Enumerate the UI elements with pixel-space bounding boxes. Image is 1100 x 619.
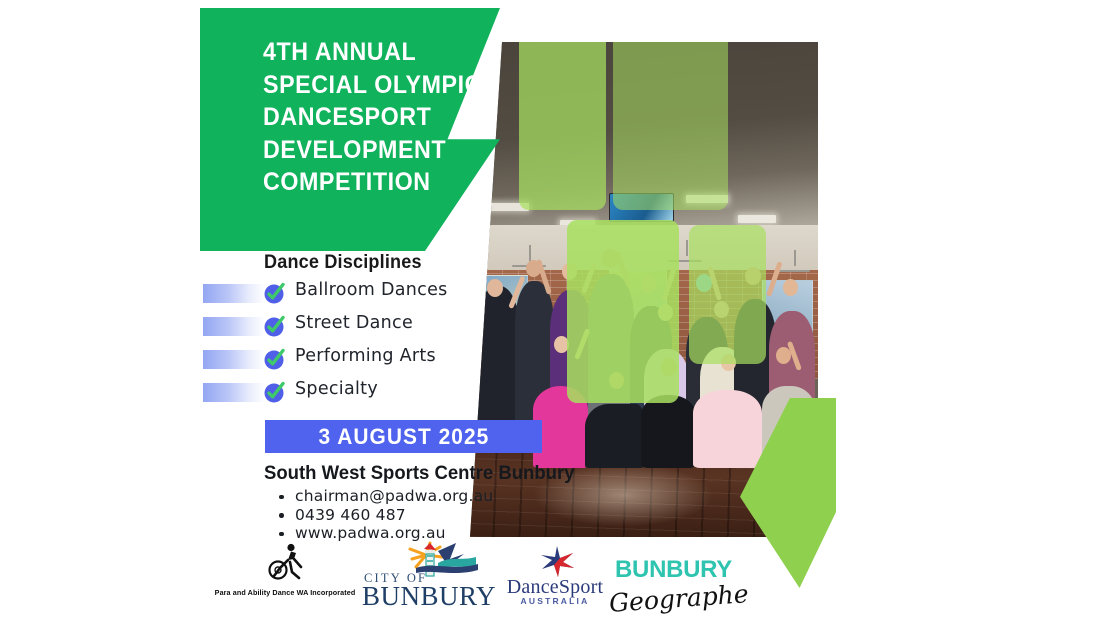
- sponsor-logos: Para and Ability Dance WA Incorporated C…: [0, 540, 1100, 619]
- discipline-item-specialty[interactable]: Specialty: [203, 380, 503, 413]
- headline-text: 4TH ANNUAL SPECIAL OLYMPICS DANCESPORT D…: [263, 36, 486, 199]
- discipline-label: Performing Arts: [295, 346, 436, 366]
- discipline-label: Street Dance: [295, 313, 413, 333]
- decorative-green-panel: [567, 220, 678, 403]
- disciplines-list: Ballroom Dances Street Dance Performing …: [203, 281, 503, 413]
- discipline-label: Ballroom Dances: [295, 280, 448, 300]
- decorative-green-panel: [689, 225, 766, 364]
- sponsor-padwa: Para and Ability Dance WA Incorporated: [210, 542, 360, 597]
- check-circle-icon: [263, 281, 287, 305]
- photo-person: [693, 390, 763, 467]
- sponsor-bg-script: Geographe: [608, 579, 749, 618]
- event-date-banner: 3 AUGUST 2025: [265, 420, 542, 453]
- discipline-gradient-bar: [203, 317, 265, 336]
- event-date: 3 AUGUST 2025: [318, 424, 489, 450]
- check-circle-icon: [263, 380, 287, 404]
- headline-line-2: SPECIAL OLYMPICS: [263, 69, 486, 102]
- decorative-green-panel: [613, 42, 728, 210]
- discipline-gradient-bar: [203, 350, 265, 369]
- photo-person: [585, 404, 644, 468]
- discipline-gradient-bar: [203, 284, 265, 303]
- discipline-label: Specialty: [295, 379, 378, 399]
- discipline-item-performing-arts[interactable]: Performing Arts: [203, 347, 503, 380]
- photo-ceiling-light: [738, 215, 776, 222]
- headline-line-3: DANCESPORT: [263, 101, 486, 134]
- photo-person-head: [783, 279, 798, 296]
- star-logo-icon: [527, 544, 583, 578]
- sponsor-padwa-caption: Para and Ability Dance WA Incorporated: [210, 588, 360, 597]
- disciplines-title: Dance Disciplines: [264, 252, 422, 274]
- decorative-green-panel: [519, 42, 606, 210]
- sponsor-bunbury-geographe: BUNBURYGeographe: [615, 556, 805, 613]
- sponsor-dancesport: DanceSport AUSTRALIA: [490, 544, 620, 606]
- headline-line-5: COMPETITION: [263, 166, 486, 199]
- discipline-gradient-bar: [203, 383, 265, 402]
- contact-email[interactable]: chairman@padwa.org.au: [277, 487, 493, 506]
- event-flyer: 4TH ANNUAL SPECIAL OLYMPICS DANCESPORT D…: [0, 0, 1100, 619]
- discipline-item-street-dance[interactable]: Street Dance: [203, 314, 503, 347]
- event-venue: South West Sports Centre Bunbury: [264, 462, 574, 485]
- contact-list: chairman@padwa.org.au 0439 460 487 www.p…: [277, 487, 493, 543]
- wheelchair-dance-icon: [261, 542, 309, 582]
- sponsor-bunbury-line2: BUNBURY: [362, 581, 496, 612]
- photo-person-head: [554, 336, 569, 353]
- check-circle-icon: [263, 347, 287, 371]
- headline-line-4: DEVELOPMENT: [263, 134, 486, 167]
- contact-phone[interactable]: 0439 460 487: [277, 506, 493, 525]
- photo-person: [641, 395, 697, 468]
- headline-line-1: 4TH ANNUAL: [263, 36, 486, 69]
- photo-raised-arm: [766, 262, 782, 298]
- check-circle-icon: [263, 314, 287, 338]
- sponsor-bg-bold: BUNBURY: [615, 556, 732, 584]
- discipline-item-ballroom-dances[interactable]: Ballroom Dances: [203, 281, 503, 314]
